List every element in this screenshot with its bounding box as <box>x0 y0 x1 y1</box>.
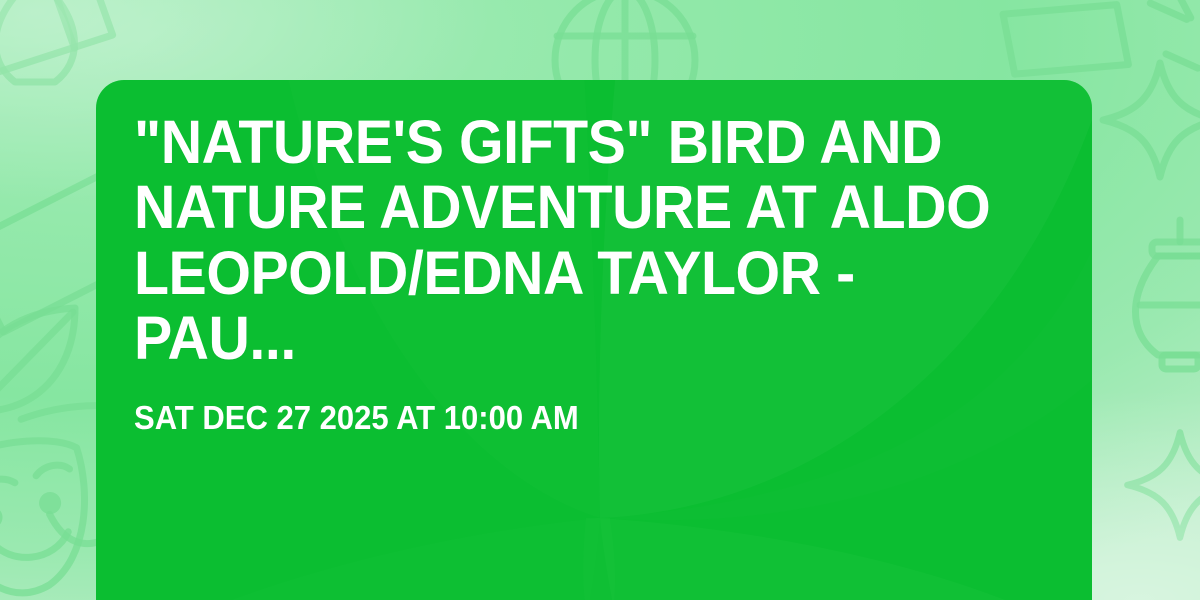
event-date: SAT DEC 27 2025 AT 10:00 AM <box>134 399 1006 437</box>
card-content: "NATURE'S GIFTS" BIRD AND NATURE ADVENTU… <box>134 110 1062 437</box>
event-title: "NATURE'S GIFTS" BIRD AND NATURE ADVENTU… <box>134 110 1006 371</box>
event-card[interactable]: "NATURE'S GIFTS" BIRD AND NATURE ADVENTU… <box>96 80 1092 600</box>
